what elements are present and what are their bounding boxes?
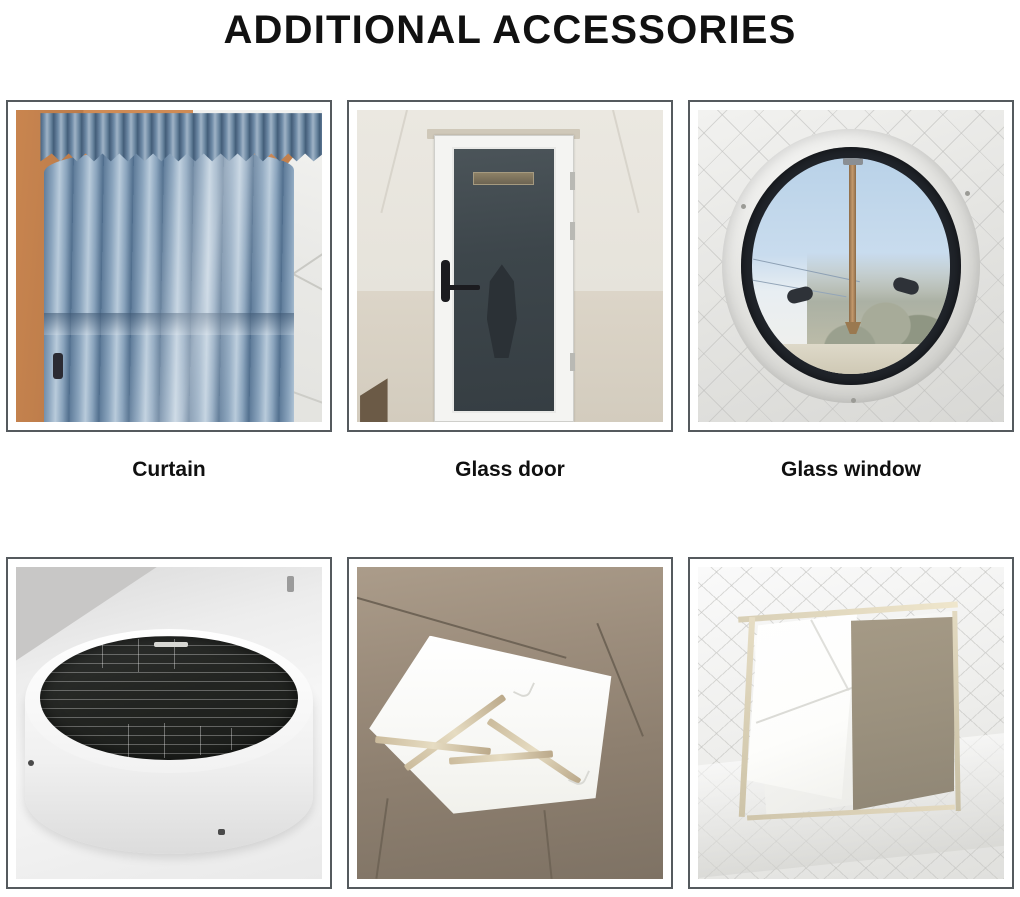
- door-handle: [441, 260, 450, 302]
- accessory-card-electric-sunshade[interactable]: Electric sunshade: [688, 557, 1014, 897]
- panel-gridline-6: [200, 726, 201, 756]
- caption-curtain: Curtain: [6, 458, 332, 482]
- panel-gridline-5: [164, 723, 165, 758]
- skylight-photo: [357, 567, 663, 879]
- electric-sunshade-frame: [688, 557, 1014, 889]
- reflection-shape: [487, 264, 517, 358]
- door-hinge-bottom: [570, 353, 575, 371]
- curtain-tieback-hook: [53, 353, 63, 379]
- electric-sunshade-photo: [698, 567, 1004, 879]
- sunshade-fabric-panel: [851, 617, 955, 810]
- glass-door-frame: [347, 100, 673, 432]
- accessory-card-skylight[interactable]: Skylight: [347, 557, 673, 897]
- panel-gridline-4: [128, 724, 129, 756]
- curtain-highlight: [44, 151, 295, 422]
- page-title: ADDITIONAL ACCESSORIES: [0, 8, 1020, 53]
- door-hinge-middle: [570, 222, 575, 240]
- accessories-row-2: Solar fan: [0, 557, 1020, 897]
- caption-glass-window: Glass window: [688, 458, 1014, 482]
- solar-fan-photo: [16, 567, 322, 879]
- accessories-page: ADDITIONAL ACCESSORIES: [0, 0, 1020, 897]
- door-hinge-top: [570, 172, 575, 190]
- glass-window-photo: [698, 110, 1004, 422]
- solar-panel-disc: [40, 636, 297, 761]
- door-sign-plate: [473, 172, 534, 184]
- panel-gridline-7: [231, 728, 232, 750]
- panel-gridline-1: [102, 641, 103, 668]
- collar-screw-left: [741, 204, 746, 209]
- door-lever: [446, 285, 480, 290]
- ground-outside: [752, 344, 951, 374]
- curtain-photo: [16, 110, 322, 422]
- window-glass-pane: [752, 158, 951, 373]
- accessories-row-1: Curtain: [0, 100, 1020, 482]
- caption-glass-door: Glass door: [347, 458, 673, 482]
- accessory-card-curtain[interactable]: Curtain: [6, 100, 332, 482]
- glass-door-photo: [357, 110, 663, 422]
- accessory-card-solar-fan[interactable]: Solar fan: [6, 557, 332, 897]
- window-stay-rod: [849, 163, 856, 327]
- window-rod-cap: [843, 158, 863, 165]
- accessory-card-glass-door[interactable]: Glass door: [347, 100, 673, 482]
- accessory-card-glass-window[interactable]: Glass window: [688, 100, 1014, 482]
- curtain-frame: [6, 100, 332, 432]
- housing-screw-right: [218, 829, 225, 835]
- door-glass-pane: [452, 147, 556, 412]
- solar-fan-frame: [6, 557, 332, 889]
- panel-gridline-2: [138, 639, 139, 671]
- mount-bolt: [287, 576, 294, 592]
- panel-contact-tab: [154, 642, 188, 647]
- accessories-grid: Curtain: [0, 100, 1020, 897]
- daylight-panel: [747, 614, 857, 807]
- skylight-frame: [347, 557, 673, 889]
- glass-window-frame: [688, 100, 1014, 432]
